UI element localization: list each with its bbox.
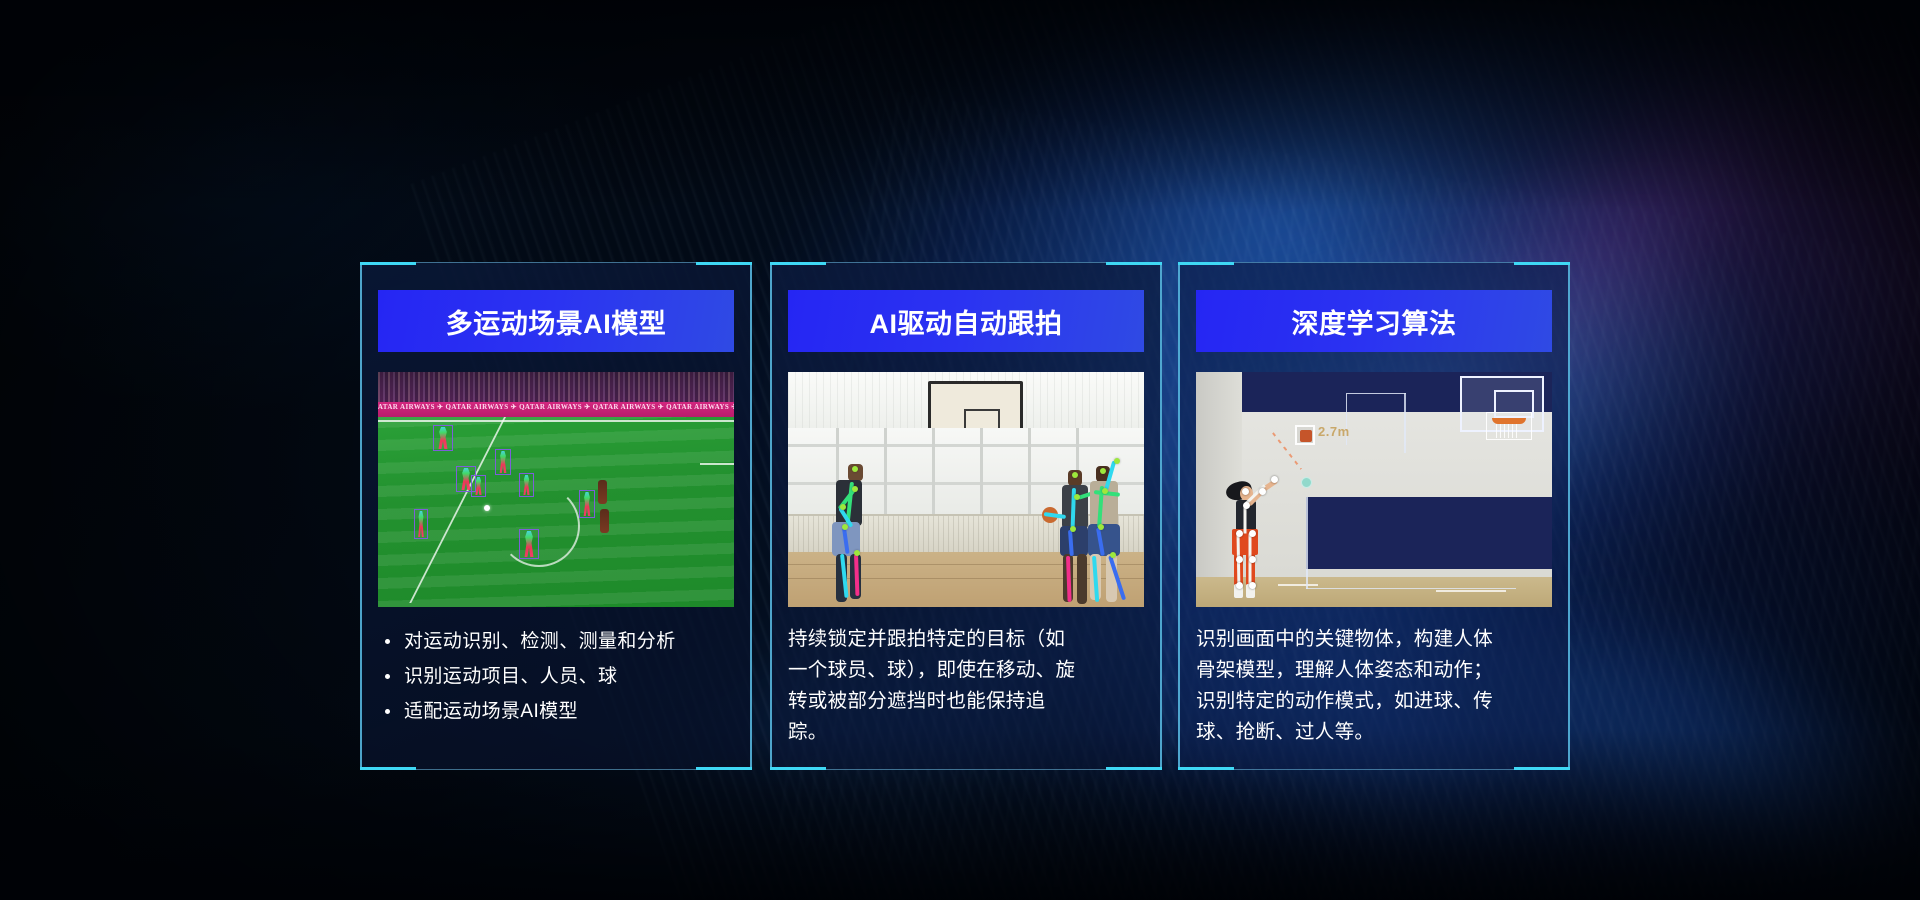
card-edge-top	[416, 262, 696, 263]
card-edge-bottom	[416, 769, 696, 770]
pose-skeleton	[435, 427, 451, 449]
court-wall-pad	[1306, 497, 1552, 569]
card-title-bar: AI驱动自动跟拍	[788, 290, 1144, 352]
player-detection-box	[495, 449, 511, 475]
card-edge-bottom	[826, 769, 1106, 770]
soccer-scene: QATAR AIRWAYS ✈ QATAR AIRWAYS ✈ QATAR AI…	[378, 372, 734, 607]
corner-bracket-bottom-right	[1106, 767, 1162, 770]
card-media-basketball-shot-trajectory: 2.7m	[1196, 372, 1552, 607]
trajectory-drop-line	[1404, 393, 1406, 453]
rim-detection-box	[1486, 412, 1532, 440]
card-media-indoor-basketball-pose-tracking	[788, 372, 1144, 607]
keypoint-hip	[1236, 530, 1243, 537]
feature-card-ai-auto-tracking-shot[interactable]: AI驱动自动跟拍	[770, 262, 1162, 770]
soccer-ball	[484, 505, 490, 511]
pitch-line-right-box	[700, 463, 734, 465]
keypoint-shoulder	[1243, 502, 1250, 509]
backboard	[928, 381, 1023, 433]
corner-bracket-top-left	[360, 262, 416, 265]
pitchside-banner: QATAR AIRWAYS ✈ QATAR AIRWAYS ✈ QATAR AI…	[378, 402, 734, 417]
list-item: 对运动识别、检测、测量和分析	[378, 624, 738, 659]
distance-label: 2.7m	[1318, 424, 1350, 439]
shooter-pose-skeleton	[1218, 476, 1278, 607]
corner-bracket-bottom-right	[696, 767, 752, 770]
keypoint	[1072, 472, 1078, 478]
keypoint	[1098, 524, 1104, 530]
list-item: 适配运动场景AI模型	[378, 694, 738, 729]
corner-bracket-top-right	[1106, 262, 1162, 265]
keypoint	[840, 504, 846, 510]
trajectory-apex-line	[1346, 393, 1406, 445]
court-scene: 2.7m	[1196, 372, 1552, 607]
card-media-soccer-pitch-detection: QATAR AIRWAYS ✈ QATAR AIRWAYS ✈ QATAR AI…	[378, 372, 734, 607]
window-mullion	[980, 428, 983, 514]
pose-skeleton	[521, 531, 537, 557]
card-title-bar: 深度学习算法	[1196, 290, 1552, 352]
card-body: 持续锁定并跟拍特定的目标（如一个球员、球），即使在移动、旋转或被部分遮挡时也能保…	[788, 624, 1148, 748]
card-description: 持续锁定并跟拍特定的目标（如一个球员、球），即使在移动、旋转或被部分遮挡时也能保…	[788, 624, 1078, 748]
player-detection-box	[579, 490, 595, 518]
tracked-ball	[1300, 430, 1312, 442]
feature-bullet-list: 对运动识别、检测、测量和分析 识别运动项目、人员、球 适配运动场景AI模型	[378, 624, 738, 729]
card-description: 识别画面中的关键物体，构建人体骨架模型，理解人体姿态和动作；识别特定的动作模式，…	[1196, 624, 1496, 748]
corner-bracket-bottom-left	[770, 767, 826, 770]
card-edge-bottom	[1234, 769, 1514, 770]
player-detection-box	[471, 475, 486, 497]
window-mullion	[932, 428, 935, 514]
keypoint	[852, 486, 858, 492]
corner-bracket-bottom-left	[360, 767, 416, 770]
keypoint	[842, 524, 848, 530]
keypoint	[1102, 488, 1108, 494]
keypoint-wrist	[1271, 476, 1278, 483]
corner-bracket-top-left	[1178, 262, 1234, 265]
court-reference-marker	[1301, 477, 1312, 488]
feature-card-group: 多运动场景AI模型 QATAR AIRWAYS ✈ QATAR AIRWAYS …	[0, 0, 1920, 900]
trajectory-ground-line	[1306, 497, 1308, 589]
card-title-bar: 多运动场景AI模型	[378, 290, 734, 352]
card-title: AI驱动自动跟拍	[870, 302, 1063, 341]
keypoint	[1114, 458, 1120, 464]
pitch-line-far	[378, 420, 734, 422]
keypoint	[1110, 552, 1116, 558]
floor-marking	[1436, 590, 1506, 592]
feature-card-deep-learning-algorithm[interactable]: 深度学习算法	[1178, 262, 1570, 770]
keypoint-ankle	[1249, 582, 1256, 589]
floor-marking	[1278, 584, 1318, 586]
player-detection-box	[414, 509, 428, 539]
keypoint-head	[1242, 488, 1249, 495]
card-edge-top	[1234, 262, 1514, 263]
corner-bracket-top-right	[1514, 262, 1570, 265]
feature-card-multi-sport-ai-model[interactable]: 多运动场景AI模型 QATAR AIRWAYS ✈ QATAR AIRWAYS …	[360, 262, 752, 770]
pitch-surface	[378, 417, 734, 607]
corner-bracket-top-left	[770, 262, 826, 265]
pose-skeleton	[497, 451, 509, 473]
card-body: 对运动识别、检测、测量和分析 识别运动项目、人员、球 适配运动场景AI模型	[378, 624, 738, 729]
keypoint-ankle	[1236, 582, 1243, 589]
pose-skeleton	[581, 492, 593, 516]
pose-skeleton	[521, 475, 532, 495]
pose-skeleton	[416, 511, 426, 537]
keypoint	[1100, 468, 1106, 474]
list-item: 识别运动项目、人员、球	[378, 659, 738, 694]
pose-skeleton	[473, 477, 484, 495]
opponent-player	[598, 480, 607, 504]
card-title: 深度学习算法	[1292, 302, 1457, 341]
keypoint-elbow	[1259, 488, 1266, 495]
player-detection-box	[519, 473, 534, 497]
tracked-player-right-b	[1080, 464, 1132, 607]
keypoint-hip	[1249, 530, 1256, 537]
gym-scene	[788, 372, 1144, 607]
keypoint	[852, 466, 858, 472]
keypoint-knee	[1236, 556, 1243, 563]
window-mullion	[1028, 428, 1031, 514]
opponent-player	[600, 509, 609, 533]
keypoint	[854, 550, 860, 556]
trajectory-floor-line	[1306, 587, 1516, 589]
stadium-crowd	[378, 372, 734, 402]
tracked-player-left	[828, 464, 878, 607]
banner-sponsor-text: QATAR AIRWAYS ✈ QATAR AIRWAYS ✈ QATAR AI…	[378, 403, 734, 411]
center-circle-arc	[498, 485, 580, 567]
card-title: 多运动场景AI模型	[446, 302, 667, 341]
window-transom	[788, 444, 1144, 447]
keypoint	[1070, 526, 1076, 532]
player-detection-box	[519, 529, 539, 559]
window-mullion	[884, 428, 887, 514]
card-edge-top	[826, 262, 1106, 263]
player-detection-box	[433, 425, 453, 451]
card-body: 识别画面中的关键物体，构建人体骨架模型，理解人体姿态和动作；识别特定的动作模式，…	[1196, 624, 1556, 748]
corner-bracket-bottom-right	[1514, 767, 1570, 770]
corner-bracket-top-right	[696, 262, 752, 265]
ball-detection-box	[1295, 425, 1315, 445]
corner-bracket-bottom-left	[1178, 767, 1234, 770]
keypoint-knee	[1249, 556, 1256, 563]
